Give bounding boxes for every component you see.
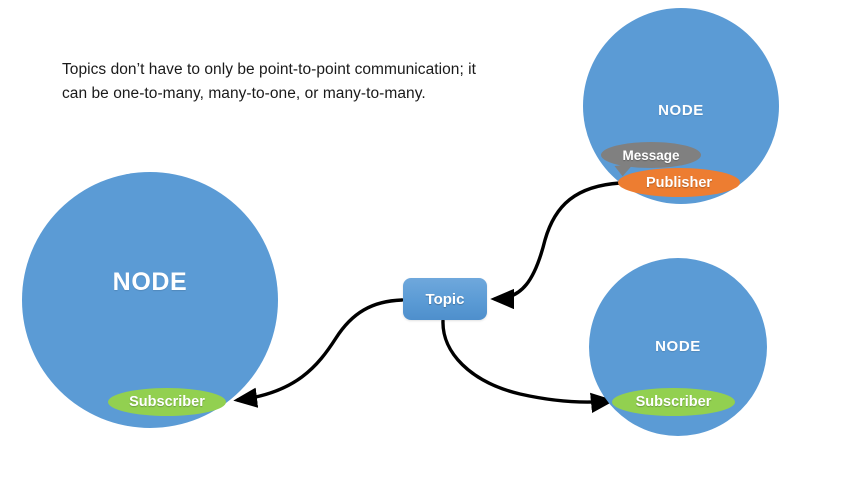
publisher[interactable]: Publisher: [618, 168, 740, 197]
node-top-right-label: NODE: [583, 102, 779, 119]
diagram-canvas: Topics don’t have to only be point-to-po…: [0, 0, 854, 480]
connector-publisher-to-topic: [495, 183, 620, 299]
caption-text: Topics don’t have to only be point-to-po…: [62, 58, 482, 106]
node-bottom-right-label: NODE: [589, 338, 767, 355]
subscriber-left[interactable]: Subscriber: [108, 388, 226, 416]
subscriber-right[interactable]: Subscriber: [612, 388, 735, 416]
connector-topic-to-subscriber-right: [443, 321, 610, 402]
node-left-label: NODE: [22, 268, 278, 297]
message-bubble[interactable]: Message: [601, 142, 701, 168]
topic-box[interactable]: Topic: [403, 278, 487, 320]
